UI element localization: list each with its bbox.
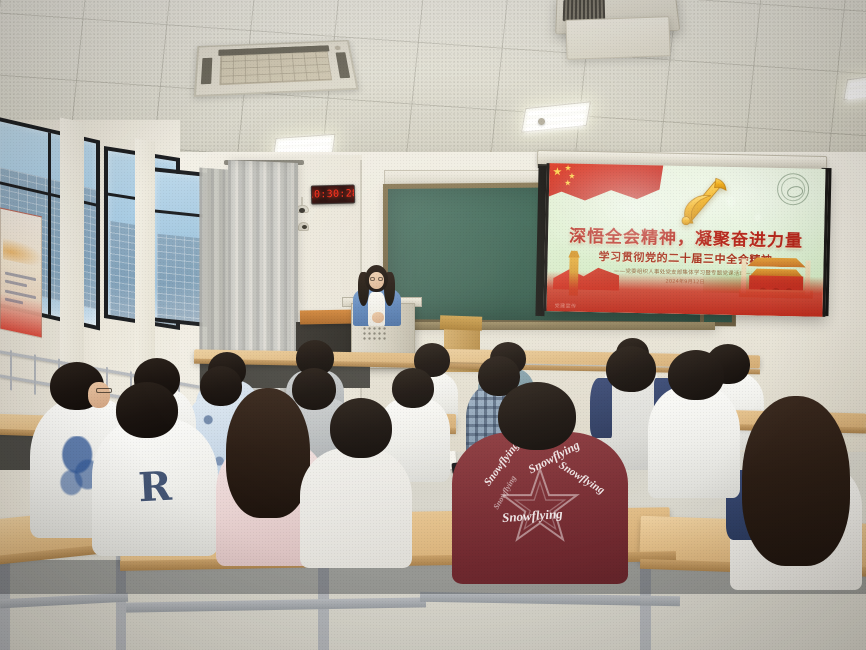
window-mullion [155,209,203,217]
student-face [88,382,110,408]
camera-lens [299,208,305,213]
student-shirt: Snowflying Snowflying Snowflying Snowfly… [452,432,628,584]
student-hair [226,388,310,518]
ac-sensor-dot [334,46,341,51]
smoke-detector-icon [538,118,545,125]
flag-star-icon: ★ [552,167,562,178]
slide-watermark: 党建宣传 [555,302,577,309]
clock-time-display: 10:30:28 [311,188,355,200]
digital-wall-clock: 10:30:28 [311,184,355,204]
circular-seal-icon [777,173,810,206]
poster-graphic [3,237,42,268]
student-hair [742,396,850,566]
wooden-lectern [300,310,356,325]
raglan-sleeve [590,378,612,438]
student-head [330,398,392,458]
presentation-slide: ★ ★ ★ ★ [546,163,825,317]
dove-icon: ❥ [726,194,737,208]
student-shirt: R [92,418,218,556]
desk-cubby-shelf [0,593,128,609]
poster-text-line [5,280,27,287]
ac-filter-panel [219,51,332,85]
ceiling-ac-cassette [194,40,359,97]
student-shirt [300,448,412,568]
wall-poster [0,208,42,339]
student-shirt [648,386,740,498]
hammer-and-sickle-icon [674,172,733,231]
poster-text-line [5,290,36,299]
railing-post [10,350,12,390]
dove-icon: ❥ [754,213,762,223]
side-cabinet-top [440,315,482,330]
ac-vent [201,58,212,85]
student-head [668,350,724,400]
gate-roof [741,255,811,267]
security-camera-icon [298,222,309,231]
window-mullion [48,132,51,315]
projection-screen: ★ ★ ★ ★ [543,163,828,317]
ac-vent [336,52,351,78]
glasses-icon [370,277,383,281]
slide-red-footer [546,271,823,317]
student-head [200,366,242,406]
railing-post [34,354,36,394]
glasses-icon [96,388,112,393]
student-head [606,346,656,392]
chinese-flag-icon: ★ ★ ★ ★ [545,163,664,205]
student-head [292,368,336,410]
desk-cubby-shelf [126,597,426,612]
wall-pillar [135,138,155,391]
presenter-hand [372,312,384,323]
student-head [498,382,576,450]
poster-text-line [5,298,23,304]
chalk-tray [383,322,715,330]
student-head [392,368,434,408]
poster-text-line [5,272,36,281]
flag-star-icon: ★ [564,179,571,187]
projector-body [565,16,670,60]
classroom-photo: 10:30:28 ★ ★ ★ ★ [0,0,866,650]
shirt-letter-graphic: R [137,463,173,512]
student-head [116,382,178,438]
